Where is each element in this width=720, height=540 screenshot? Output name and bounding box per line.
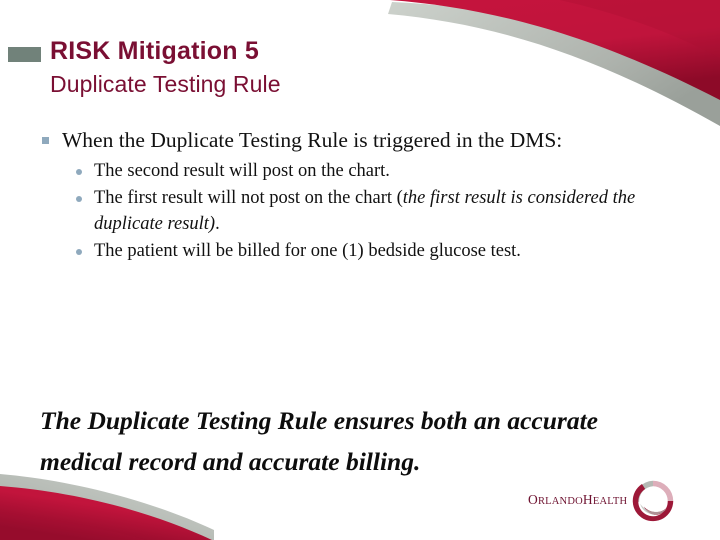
orlando-health-logo: ORLANDOHEALTH [528, 478, 678, 526]
round-bullet-icon [76, 196, 82, 202]
logo-orlando-initial: O [528, 492, 538, 507]
body-content: When the Duplicate Testing Rule is trigg… [36, 126, 684, 265]
sub-bullet-list: The second result will post on the chart… [36, 158, 684, 264]
sub-bullet-plain-lead: The first result will not post on the ch… [94, 188, 403, 208]
bullet-text: When the Duplicate Testing Rule is trigg… [62, 126, 684, 154]
slide-canvas: RISK Mitigation 5 Duplicate Testing Rule… [0, 0, 720, 540]
title-accent-dash [8, 47, 41, 62]
sub-bullet-plain-lead: The patient will be billed for one (1) b… [94, 241, 521, 261]
round-bullet-icon [76, 249, 82, 255]
page-title: RISK Mitigation 5 [50, 36, 650, 66]
sub-bullet-text: The first result will not post on the ch… [94, 185, 684, 237]
title-block: RISK Mitigation 5 Duplicate Testing Rule [50, 36, 650, 98]
list-item: The patient will be billed for one (1) b… [36, 238, 684, 264]
list-item: The first result will not post on the ch… [36, 185, 684, 237]
logo-health-initial: H [583, 492, 593, 507]
page-subtitle: Duplicate Testing Rule [50, 71, 650, 98]
logo-orlando-rest: RLANDO [538, 496, 583, 507]
logo-health-rest: EALTH [593, 496, 627, 507]
sub-bullet-text: The second result will post on the chart… [94, 158, 684, 184]
sub-bullet-plain-lead: The second result will post on the chart… [94, 161, 390, 181]
round-bullet-icon [76, 169, 82, 175]
orlando-health-wordmark: ORLANDOHEALTH [528, 492, 627, 508]
list-item: The second result will post on the chart… [36, 158, 684, 184]
conclusion-statement: The Duplicate Testing Rule ensures both … [40, 400, 660, 482]
list-item: When the Duplicate Testing Rule is trigg… [36, 126, 684, 154]
sub-bullet-text: The patient will be billed for one (1) b… [94, 238, 684, 264]
orlando-health-swirl-icon [630, 478, 676, 524]
square-bullet-icon [42, 137, 49, 144]
sub-bullet-plain-tail: . [215, 214, 220, 234]
